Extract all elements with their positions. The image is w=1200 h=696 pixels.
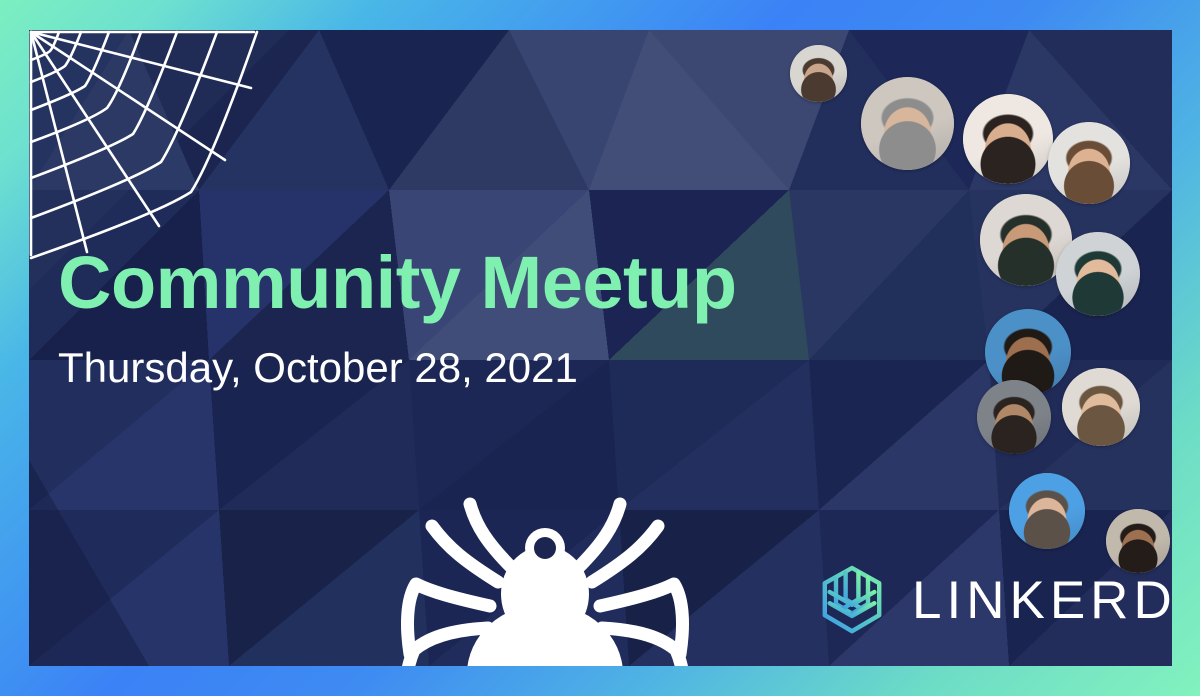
linkerd-wordmark: LINKERD xyxy=(912,574,1172,627)
linkerd-mark-icon xyxy=(812,560,892,640)
avatar-portrait xyxy=(1062,368,1140,446)
linkerd-logo-lockup: LINKERD xyxy=(812,560,1172,640)
avatar xyxy=(977,380,1051,454)
banner-stage: Community Meetup Thursday, October 28, 2… xyxy=(29,30,1172,666)
avatar xyxy=(1062,368,1140,446)
avatar xyxy=(1048,122,1130,204)
avatar xyxy=(1106,509,1170,573)
event-date: Thursday, October 28, 2021 xyxy=(58,346,838,390)
avatar-portrait xyxy=(1009,473,1085,549)
avatar-portrait xyxy=(977,380,1051,454)
avatar xyxy=(1009,473,1085,549)
text-block: Community Meetup Thursday, October 28, 2… xyxy=(58,245,838,391)
avatar-portrait xyxy=(790,45,847,102)
avatar xyxy=(790,45,847,102)
avatar-portrait xyxy=(963,94,1053,184)
avatar xyxy=(963,94,1053,184)
avatar xyxy=(861,77,954,170)
avatar-portrait xyxy=(1048,122,1130,204)
avatar-portrait xyxy=(861,77,954,170)
avatar-portrait xyxy=(1106,509,1170,573)
community-meetup-banner: Community Meetup Thursday, October 28, 2… xyxy=(0,0,1200,696)
avatar-portrait xyxy=(1056,232,1140,316)
avatar xyxy=(1056,232,1140,316)
page-title: Community Meetup xyxy=(58,245,838,320)
